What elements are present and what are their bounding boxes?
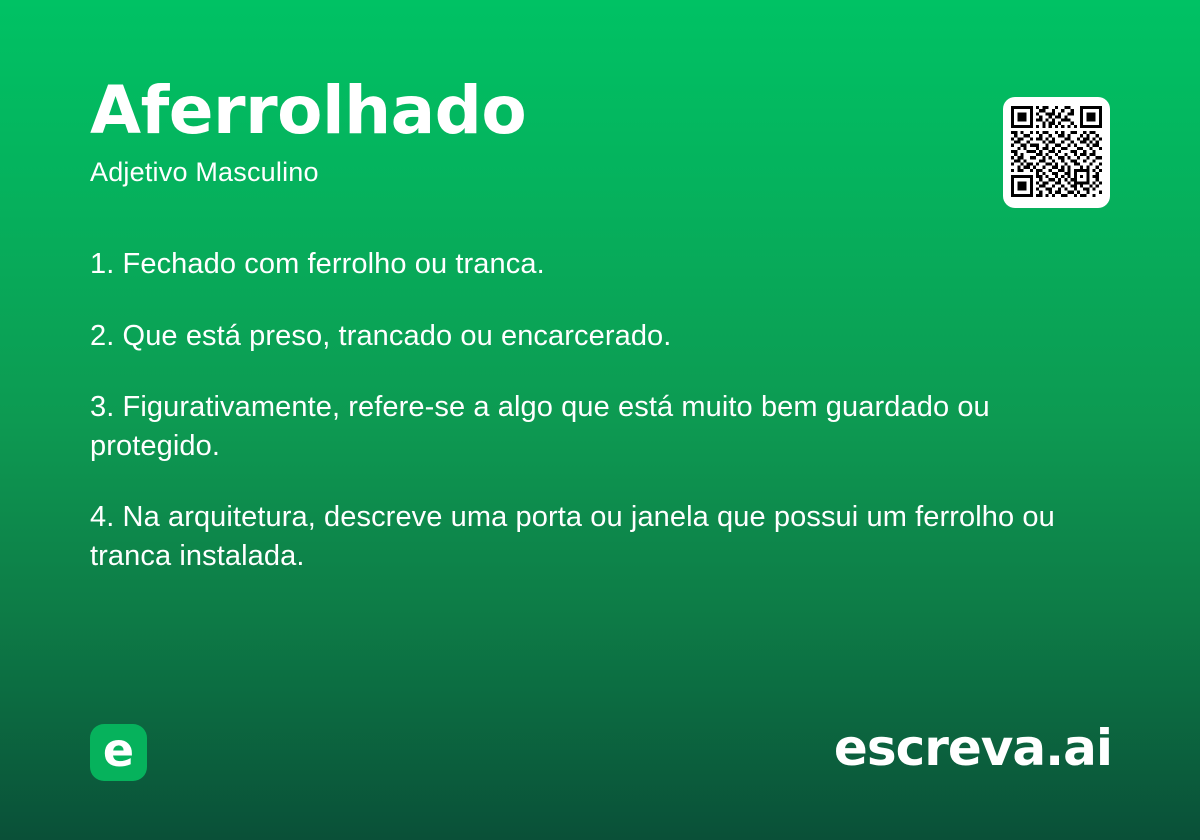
word-class-label: Adjetivo Masculino bbox=[90, 158, 1110, 188]
logo-letter-e: e bbox=[103, 727, 134, 773]
escreva-logo[interactable]: e bbox=[90, 724, 147, 781]
definition-item: 3. Figurativamente, refere-se a algo que… bbox=[90, 388, 1090, 465]
qr-code-icon bbox=[1011, 105, 1102, 198]
page-title: Aferrolhado bbox=[90, 78, 1110, 144]
definition-item: 4. Na arquitetura, descreve uma porta ou… bbox=[90, 498, 1090, 575]
definition-item: 2. Que está preso, trancado ou encarcera… bbox=[90, 317, 1090, 356]
dictionary-card: Aferrolhado Adjetivo Masculino bbox=[0, 0, 1200, 840]
brand-wordmark: escreva.ai bbox=[834, 722, 1112, 775]
definition-item: 1. Fechado com ferrolho ou tranca. bbox=[90, 245, 1090, 284]
qr-code[interactable] bbox=[1003, 97, 1110, 208]
card-header: Aferrolhado Adjetivo Masculino bbox=[90, 78, 1110, 188]
definition-list: 1. Fechado com ferrolho ou tranca. 2. Qu… bbox=[90, 245, 1090, 575]
